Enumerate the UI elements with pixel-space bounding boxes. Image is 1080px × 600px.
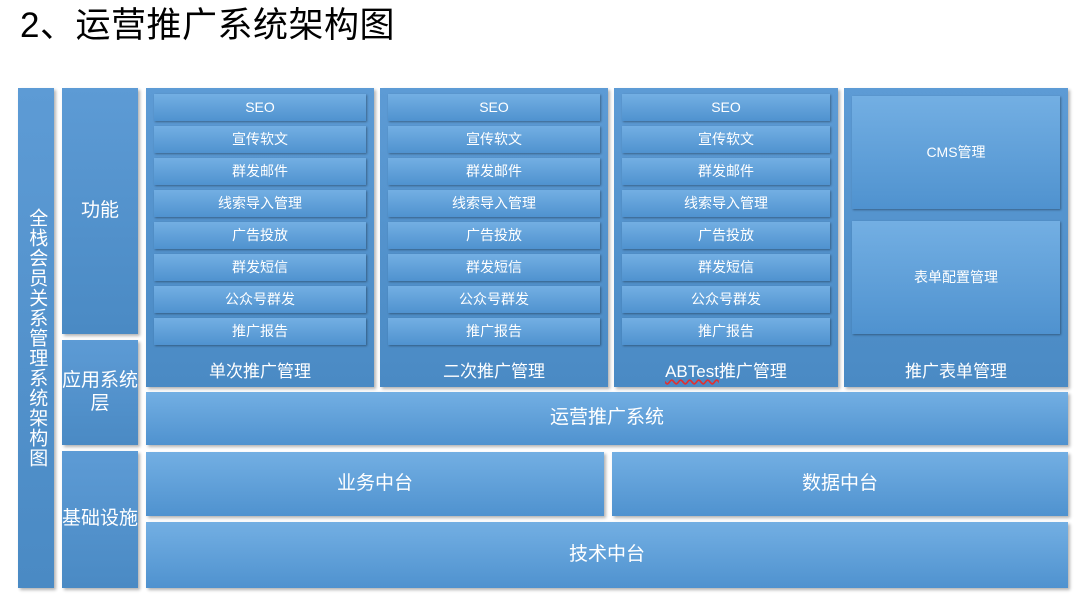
function-group-title-text: 推广管理 <box>719 362 787 381</box>
function-chip[interactable]: SEO <box>154 94 366 121</box>
system-bar[interactable]: 运营推广系统 <box>146 392 1068 445</box>
function-chip[interactable]: 宣传软文 <box>622 126 830 153</box>
function-group-title: 二次推广管理 <box>388 362 600 387</box>
function-group-title-text: 二次推广管理 <box>443 362 545 381</box>
function-chip[interactable]: 公众号群发 <box>154 286 366 313</box>
spellcheck-underlined-text: ABTest <box>665 362 719 381</box>
function-group: SEO 宣传软文 群发邮件 线索导入管理 广告投放 群发短信 公众号群发 推广报… <box>614 88 838 387</box>
architecture-diagram: 全栈会员关系管理系统架构图 功能 应用系统层 基础设施 SEO 宣传软文 群发邮… <box>0 0 1080 600</box>
function-group-title-text: 单次推广管理 <box>209 362 311 381</box>
function-chip[interactable]: 广告投放 <box>622 222 830 249</box>
function-chip[interactable]: 宣传软文 <box>388 126 600 153</box>
function-chip[interactable]: 线索导入管理 <box>388 190 600 217</box>
function-chip-list: CMS管理 表单配置管理 <box>852 94 1060 334</box>
function-chip[interactable]: 公众号群发 <box>622 286 830 313</box>
function-chip[interactable]: SEO <box>388 94 600 121</box>
platform-bar-data[interactable]: 数据中台 <box>612 452 1068 516</box>
function-chip-list: SEO 宣传软文 群发邮件 线索导入管理 广告投放 群发短信 公众号群发 推广报… <box>388 94 600 345</box>
function-group-title: ABTest推广管理 <box>622 362 830 387</box>
function-chip[interactable]: 群发短信 <box>388 254 600 281</box>
layer-label-function: 功能 <box>62 88 138 334</box>
layer-label-infrastructure: 基础设施 <box>62 451 138 588</box>
function-chip[interactable]: 推广报告 <box>388 318 600 345</box>
function-chip[interactable]: 推广报告 <box>622 318 830 345</box>
function-chip[interactable]: 推广报告 <box>154 318 366 345</box>
function-group-title-text: 推广表单管理 <box>905 362 1007 381</box>
function-chip[interactable]: CMS管理 <box>852 96 1060 209</box>
platform-bar-business[interactable]: 业务中台 <box>146 452 604 516</box>
function-chip[interactable]: 公众号群发 <box>388 286 600 313</box>
function-group: CMS管理 表单配置管理 推广表单管理 <box>844 88 1068 387</box>
function-chip[interactable]: 群发邮件 <box>388 158 600 185</box>
function-group-title: 单次推广管理 <box>154 362 366 387</box>
function-chip[interactable]: 群发短信 <box>154 254 366 281</box>
function-chip[interactable]: 表单配置管理 <box>852 221 1060 334</box>
function-chip[interactable]: SEO <box>622 94 830 121</box>
diagram-vertical-title: 全栈会员关系管理系统架构图 <box>18 88 54 588</box>
function-chip[interactable]: 线索导入管理 <box>622 190 830 217</box>
function-chip[interactable]: 群发短信 <box>622 254 830 281</box>
function-chip[interactable]: 线索导入管理 <box>154 190 366 217</box>
function-chip[interactable]: 群发邮件 <box>622 158 830 185</box>
function-chip[interactable]: 广告投放 <box>388 222 600 249</box>
function-group: SEO 宣传软文 群发邮件 线索导入管理 广告投放 群发短信 公众号群发 推广报… <box>380 88 608 387</box>
function-chip-list: SEO 宣传软文 群发邮件 线索导入管理 广告投放 群发短信 公众号群发 推广报… <box>154 94 366 345</box>
function-chip[interactable]: 群发邮件 <box>154 158 366 185</box>
function-chip[interactable]: 广告投放 <box>154 222 366 249</box>
layer-label-application: 应用系统层 <box>62 340 138 445</box>
function-group: SEO 宣传软文 群发邮件 线索导入管理 广告投放 群发短信 公众号群发 推广报… <box>146 88 374 387</box>
function-chip-list: SEO 宣传软文 群发邮件 线索导入管理 广告投放 群发短信 公众号群发 推广报… <box>622 94 830 345</box>
function-group-title: 推广表单管理 <box>852 362 1060 387</box>
function-chip[interactable]: 宣传软文 <box>154 126 366 153</box>
platform-bar-technology[interactable]: 技术中台 <box>146 522 1068 588</box>
